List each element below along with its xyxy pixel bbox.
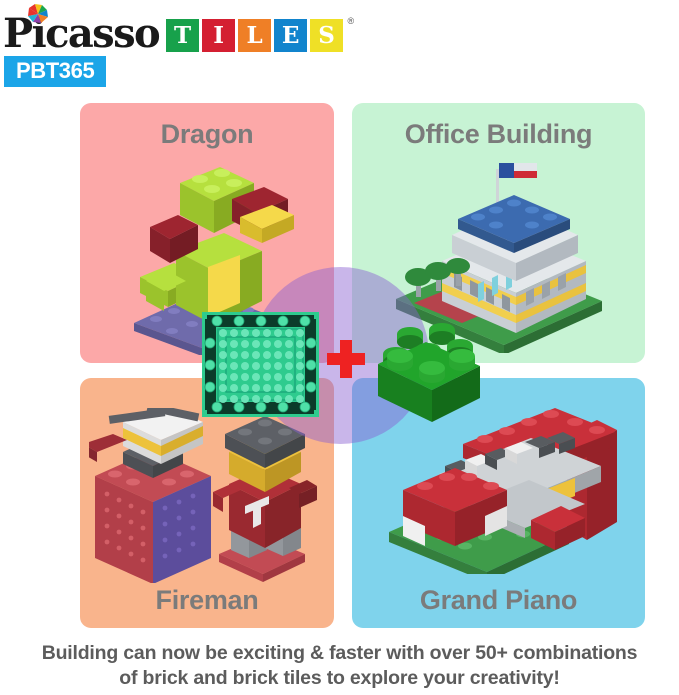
panel-grand-piano[interactable]: Grand Piano — [352, 378, 645, 628]
model-panel-grid: Dragon — [80, 103, 645, 628]
panel-fireman[interactable]: Fireman — [80, 378, 334, 628]
panel-label-fireman: Fireman — [80, 587, 334, 614]
tiles-letter-char: L — [246, 24, 262, 47]
dragon-brick-model — [80, 155, 334, 355]
tiles-letter-block: L — [238, 19, 271, 52]
sku-badge-label: PBT365 — [16, 58, 94, 83]
promo-caption-line-2: of brick and brick tiles to explore your… — [0, 666, 679, 691]
panel-label-dragon: Dragon — [80, 121, 334, 148]
tiles-wordmark: T I L E S ® — [166, 19, 343, 52]
office-building-brick-model — [352, 149, 645, 353]
tiles-letter-char: E — [282, 24, 300, 47]
tiles-letter-block: S — [310, 19, 343, 52]
panel-dragon[interactable]: Dragon — [80, 103, 334, 363]
panel-label-grand-piano: Grand Piano — [352, 587, 645, 614]
tiles-letter-block: T — [166, 19, 199, 52]
panel-office-building[interactable]: Office Building — [352, 103, 645, 363]
sku-badge: PBT365 — [4, 56, 106, 87]
promo-caption: Building can now be exciting & faster wi… — [0, 641, 679, 691]
tiles-letter-block: I — [202, 19, 235, 52]
picassotiles-logo: Picasso T I L E — [2, 8, 343, 54]
tiles-letter-char: S — [318, 24, 335, 47]
fireman-brick-model — [80, 408, 334, 583]
tiles-letter-char: T — [174, 24, 191, 47]
registered-trademark-icon: ® — [347, 16, 354, 26]
promo-caption-line-1: Building can now be exciting & faster wi… — [0, 641, 679, 666]
tiles-letter-char: I — [213, 24, 224, 47]
tiles-letter-block: E — [274, 19, 307, 52]
panel-label-office-building: Office Building — [352, 121, 645, 148]
grand-piano-brick-model — [352, 404, 645, 574]
pinwheel-icon — [26, 2, 50, 26]
brand-header: Picasso T I L E — [0, 0, 679, 96]
picasso-wordmark: Picasso — [2, 14, 159, 54]
